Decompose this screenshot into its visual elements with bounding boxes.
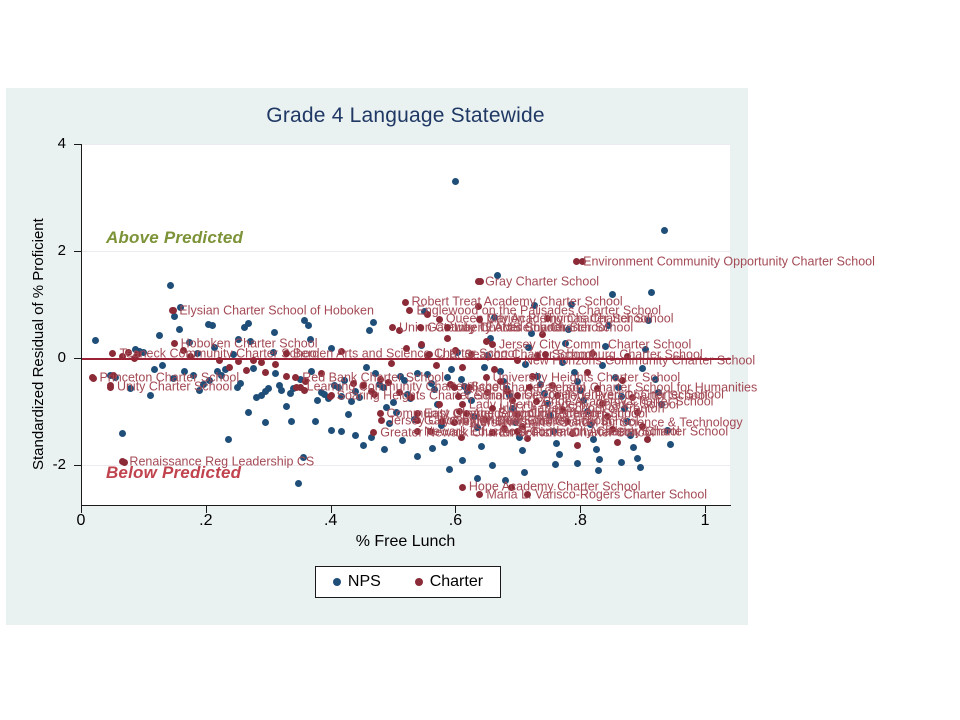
point-label-text: Maria L. Varisco-Rogers Charter School xyxy=(486,488,707,502)
scatter-point-nps xyxy=(363,364,370,371)
x-axis-line xyxy=(81,505,731,506)
point-label: Gray Charter School xyxy=(475,275,599,288)
chart-legend: NPS Charter xyxy=(315,566,501,598)
nps-dot-icon xyxy=(333,578,341,586)
scatter-point-charter xyxy=(388,360,395,367)
label-marker-dot-icon xyxy=(476,491,483,498)
scatter-point-nps xyxy=(574,460,581,467)
scatter-point-nps xyxy=(667,441,674,448)
scatter-point-nps xyxy=(245,409,252,416)
scatter-point-nps xyxy=(360,442,367,449)
scatter-point-nps xyxy=(448,366,455,373)
y-axis-tick xyxy=(74,358,81,359)
label-marker-dot-icon xyxy=(169,307,176,314)
label-marker-dot-icon xyxy=(327,393,334,400)
point-label-text: Environment Community Opportunity Charte… xyxy=(583,254,875,268)
plot-clip-layer: Environment Community Opportunity Charte… xyxy=(0,0,960,720)
point-label: New Horizons Community Charter School xyxy=(514,354,755,367)
scatter-point-nps xyxy=(489,462,496,469)
gridline xyxy=(81,251,730,252)
point-label: Community Charter School of Paterson xyxy=(377,407,604,420)
scatter-point-nps xyxy=(414,453,421,460)
legend-label-charter: Charter xyxy=(430,573,483,591)
scatter-point-nps xyxy=(429,445,436,452)
legend-item-charter: Charter xyxy=(415,573,483,591)
x-axis-tick-label: 0 xyxy=(61,512,101,530)
legend-label-nps: NPS xyxy=(348,573,381,591)
y-axis-tick xyxy=(74,251,81,252)
scatter-point-nps xyxy=(366,327,373,334)
label-marker-dot-icon xyxy=(107,384,114,391)
point-label-text: Unity Charter School xyxy=(117,380,232,394)
scatter-point-nps xyxy=(312,418,319,425)
label-marker-dot-icon xyxy=(459,484,466,491)
chart-screenshot: Grade 4 Language Statewide Environment C… xyxy=(0,0,960,720)
scatter-point-nps xyxy=(272,370,279,377)
scatter-point-charter xyxy=(459,364,466,371)
scatter-point-nps xyxy=(352,432,359,439)
scatter-point-nps xyxy=(305,322,312,329)
scatter-point-charter xyxy=(283,373,290,380)
point-label-text: Gray Charter School xyxy=(485,275,599,289)
scatter-point-nps xyxy=(176,326,183,333)
annotation-above-predicted: Above Predicted xyxy=(106,228,243,248)
scatter-point-nps xyxy=(278,387,285,394)
point-label-text: New Horizons Community Charter School xyxy=(524,353,755,367)
point-label-text: Liberty Academy Charter School xyxy=(454,321,633,335)
scatter-point-nps xyxy=(265,385,272,392)
x-axis-tick-label: 1 xyxy=(685,512,725,530)
scatter-point-nps xyxy=(637,464,644,471)
scatter-point-charter xyxy=(444,335,451,342)
scatter-point-nps xyxy=(167,282,174,289)
scatter-point-nps xyxy=(250,365,257,372)
label-marker-dot-icon xyxy=(297,384,304,391)
x-axis-title: % Free Lunch xyxy=(81,533,730,551)
scatter-point-nps xyxy=(478,443,485,450)
scatter-point-nps xyxy=(271,329,278,336)
scatter-point-nps xyxy=(156,332,163,339)
y-axis-line xyxy=(81,144,82,506)
scatter-point-nps xyxy=(481,364,488,371)
scatter-point-nps xyxy=(245,320,252,327)
label-marker-dot-icon xyxy=(109,350,116,357)
scatter-point-nps xyxy=(446,466,453,473)
label-marker-dot-icon xyxy=(426,351,433,358)
scatter-point-nps xyxy=(452,178,459,185)
label-marker-dot-icon xyxy=(389,324,396,331)
point-label: Maria L. Varisco-Rogers Charter School xyxy=(476,488,707,501)
scatter-point-nps xyxy=(345,411,352,418)
scatter-point-nps xyxy=(381,446,388,453)
scatter-point-charter xyxy=(243,367,250,374)
scatter-point-nps xyxy=(596,456,603,463)
scatter-point-nps xyxy=(519,447,526,454)
y-axis-tick xyxy=(74,465,81,466)
scatter-point-nps xyxy=(553,440,560,447)
point-label: Environment Community Opportunity Charte… xyxy=(573,255,875,268)
scatter-point-nps xyxy=(648,289,655,296)
y-axis-tick xyxy=(74,144,81,145)
label-marker-dot-icon xyxy=(406,307,413,314)
scatter-point-charter xyxy=(262,369,269,376)
scatter-point-nps xyxy=(283,403,290,410)
label-marker-dot-icon xyxy=(573,258,580,265)
point-label: Liberty Academy Charter School xyxy=(444,321,633,334)
point-label-text: Greater Newark Charter School xyxy=(380,426,555,440)
scatter-point-nps xyxy=(338,428,345,435)
zero-reference-line xyxy=(81,358,731,360)
label-marker-dot-icon xyxy=(370,429,377,436)
scatter-point-nps xyxy=(661,227,668,234)
y-axis-tick-label: 4 xyxy=(26,135,66,152)
scatter-point-nps xyxy=(521,469,528,476)
point-label: Elysian Charter School of Hoboken xyxy=(169,304,374,317)
scatter-point-charter xyxy=(433,362,440,369)
scatter-point-nps xyxy=(459,457,466,464)
label-marker-dot-icon xyxy=(444,324,451,331)
scatter-point-nps xyxy=(595,467,602,474)
scatter-point-nps xyxy=(552,461,559,468)
scatter-point-nps xyxy=(441,439,448,446)
scatter-point-nps xyxy=(295,480,302,487)
point-label: Greater Newark Charter School xyxy=(370,426,555,439)
scatter-point-charter xyxy=(272,361,279,368)
x-axis-tick-label: .6 xyxy=(435,512,475,530)
annotation-below-predicted: Below Predicted xyxy=(106,463,241,483)
point-label-text: Community Charter School of Paterson xyxy=(387,407,604,421)
scatter-point-charter xyxy=(614,439,621,446)
scatter-point-nps xyxy=(314,397,321,404)
scatter-point-nps xyxy=(288,418,295,425)
scatter-point-nps xyxy=(370,319,377,326)
scatter-point-nps xyxy=(593,446,600,453)
label-marker-dot-icon xyxy=(89,374,96,381)
scatter-point-nps xyxy=(209,322,216,329)
x-axis-tick-label: .8 xyxy=(560,512,600,530)
scatter-point-nps xyxy=(225,436,232,443)
scatter-point-charter xyxy=(574,442,581,449)
label-marker-dot-icon xyxy=(283,350,290,357)
x-axis-tick-label: .4 xyxy=(311,512,351,530)
scatter-point-nps xyxy=(328,427,335,434)
scatter-point-nps xyxy=(630,444,637,451)
point-label-text: Elysian Charter School of Hoboken xyxy=(179,304,374,318)
gridline xyxy=(81,144,730,145)
x-axis-tick-label: .2 xyxy=(186,512,226,530)
scatter-point-nps xyxy=(556,451,563,458)
charter-dot-icon xyxy=(415,578,423,586)
point-label: Unity Charter School xyxy=(107,380,232,393)
legend-item-nps: NPS xyxy=(333,573,381,591)
label-marker-dot-icon xyxy=(417,324,424,331)
scatter-point-nps xyxy=(634,455,641,462)
scatter-point-nps xyxy=(119,430,126,437)
scatter-point-nps xyxy=(159,362,166,369)
label-marker-dot-icon xyxy=(377,410,384,417)
y-axis-title: Standardized Residual of % Proficient xyxy=(30,218,47,470)
label-marker-dot-icon xyxy=(475,278,482,285)
scatter-point-nps xyxy=(618,459,625,466)
scatter-point-nps xyxy=(262,419,269,426)
scatter-point-nps xyxy=(92,337,99,344)
